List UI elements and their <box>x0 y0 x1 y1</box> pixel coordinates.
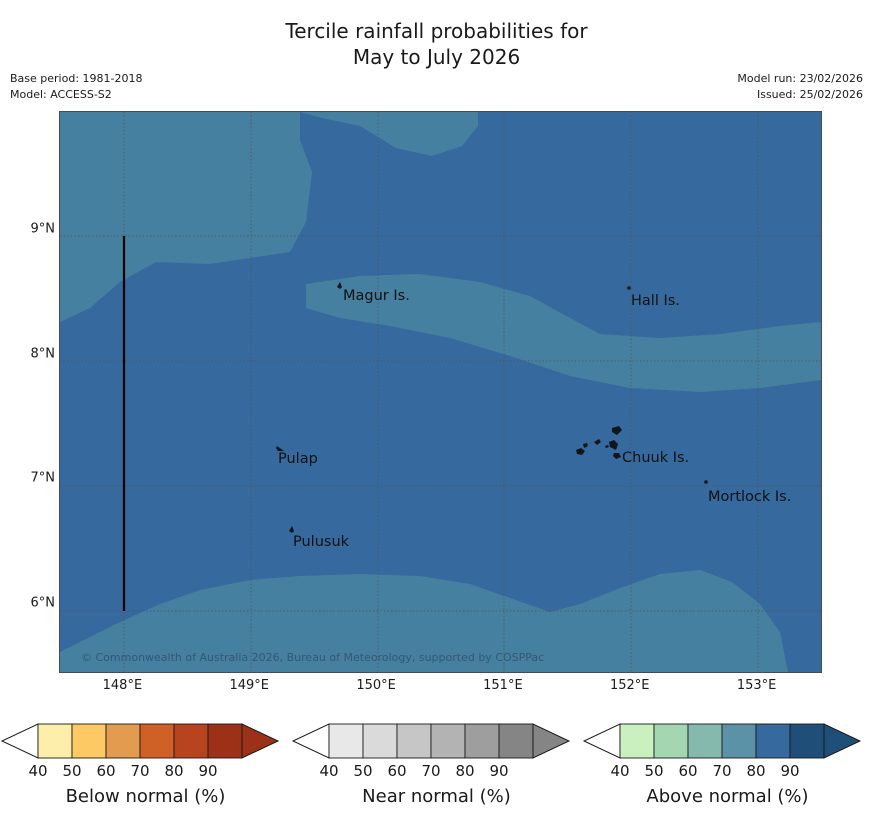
colorbar-segment <box>431 724 465 758</box>
colorbar-segment <box>140 724 174 758</box>
x-tick-label: 153°E <box>712 678 802 693</box>
copyright-notice: © Commonwealth of Australia 2026, Bureau… <box>81 651 544 664</box>
x-tick-label: 152°E <box>585 678 675 693</box>
colorbar-segment <box>620 724 654 758</box>
colorbar-segment <box>790 724 824 758</box>
x-tick-label: 151°E <box>458 678 548 693</box>
colorbar-tick-label: 90 <box>768 762 812 780</box>
colorbar-segment <box>756 724 790 758</box>
map-contour-layer: Magur Is. Hall Is. Pulap Chuuk Is. Mortl… <box>60 112 821 672</box>
page-title: Tercile rainfall probabilities for May t… <box>0 18 873 70</box>
colorbar-tick-label: 90 <box>477 762 521 780</box>
x-tick-label: 148°E <box>77 678 167 693</box>
model-text: Model: ACCESS-S2 <box>10 87 142 103</box>
place-label-pulap: Pulap <box>278 451 318 467</box>
metadata-left: Base period: 1981-2018 Model: ACCESS-S2 <box>10 71 142 103</box>
metadata-right: Model run: 23/02/2026 Issued: 25/02/2026 <box>737 71 863 103</box>
colorbar-above-caption: Above normal (%) <box>582 786 873 807</box>
colorbar-under-arrow <box>584 724 620 758</box>
colorbar-near-normal[interactable]: 405060708090 Near normal (%) <box>291 712 582 816</box>
colorbar-below-normal[interactable]: 405060708090 Below normal (%) <box>0 712 291 816</box>
issued-text: Issued: 25/02/2026 <box>737 87 863 103</box>
place-label-pulusuk: Pulusuk <box>293 534 350 550</box>
colorbar-segment <box>208 724 242 758</box>
place-label-hall-is: Hall Is. <box>631 293 680 309</box>
forecast-map[interactable]: Magur Is. Hall Is. Pulap Chuuk Is. Mortl… <box>59 111 822 673</box>
base-period-text: Base period: 1981-2018 <box>10 71 142 87</box>
colorbar-swatch-strip <box>0 718 291 764</box>
place-label-magur-is: Magur Is. <box>343 288 410 304</box>
title-line-2: May to July 2026 <box>0 44 873 70</box>
colorbar-above-ticks: 405060708090 <box>582 762 873 784</box>
colorbar-segment <box>174 724 208 758</box>
y-tick-label: 7°N <box>3 471 55 486</box>
colorbar-segment <box>688 724 722 758</box>
longitude-axis: 148°E149°E150°E151°E152°E153°E <box>59 678 822 700</box>
colorbar-segment <box>722 724 756 758</box>
x-tick-label: 149°E <box>204 678 294 693</box>
y-tick-label: 8°N <box>3 346 55 361</box>
colorbar-segment <box>654 724 688 758</box>
colorbar-segment <box>106 724 140 758</box>
x-tick-label: 150°E <box>331 678 421 693</box>
colorbar-segment <box>499 724 533 758</box>
place-label-chuuk-is: Chuuk Is. <box>622 450 689 466</box>
colorbar-segment <box>465 724 499 758</box>
colorbar-tick-label: 90 <box>186 762 230 780</box>
colorbar-over-arrow <box>533 724 569 758</box>
colorbar-below-caption: Below normal (%) <box>0 786 291 807</box>
colorbar-segment <box>72 724 106 758</box>
colorbar-below-ticks: 405060708090 <box>0 762 291 784</box>
title-line-1: Tercile rainfall probabilities for <box>0 18 873 44</box>
colorbar-swatch-strip <box>582 718 873 764</box>
y-tick-label: 9°N <box>3 222 55 237</box>
place-label-mortlock-is: Mortlock Is. <box>708 489 791 505</box>
colorbar-segment <box>38 724 72 758</box>
y-tick-label: 6°N <box>3 595 55 610</box>
colorbar-segment <box>397 724 431 758</box>
colorbar-segment <box>363 724 397 758</box>
latitude-axis: 9°N8°N7°N6°N <box>0 111 55 673</box>
colorbar-over-arrow <box>824 724 860 758</box>
model-run-text: Model run: 23/02/2026 <box>737 71 863 87</box>
colorbar-swatch-strip <box>291 718 582 764</box>
colorbar-segment <box>329 724 363 758</box>
colorbar-over-arrow <box>242 724 278 758</box>
colorbar-near-caption: Near normal (%) <box>291 786 582 807</box>
colorbar-under-arrow <box>2 724 38 758</box>
colorbar-above-normal[interactable]: 405060708090 Above normal (%) <box>582 712 873 816</box>
legend-row: 405060708090 Below normal (%) 4050607080… <box>0 712 873 816</box>
colorbar-near-ticks: 405060708090 <box>291 762 582 784</box>
colorbar-under-arrow <box>293 724 329 758</box>
